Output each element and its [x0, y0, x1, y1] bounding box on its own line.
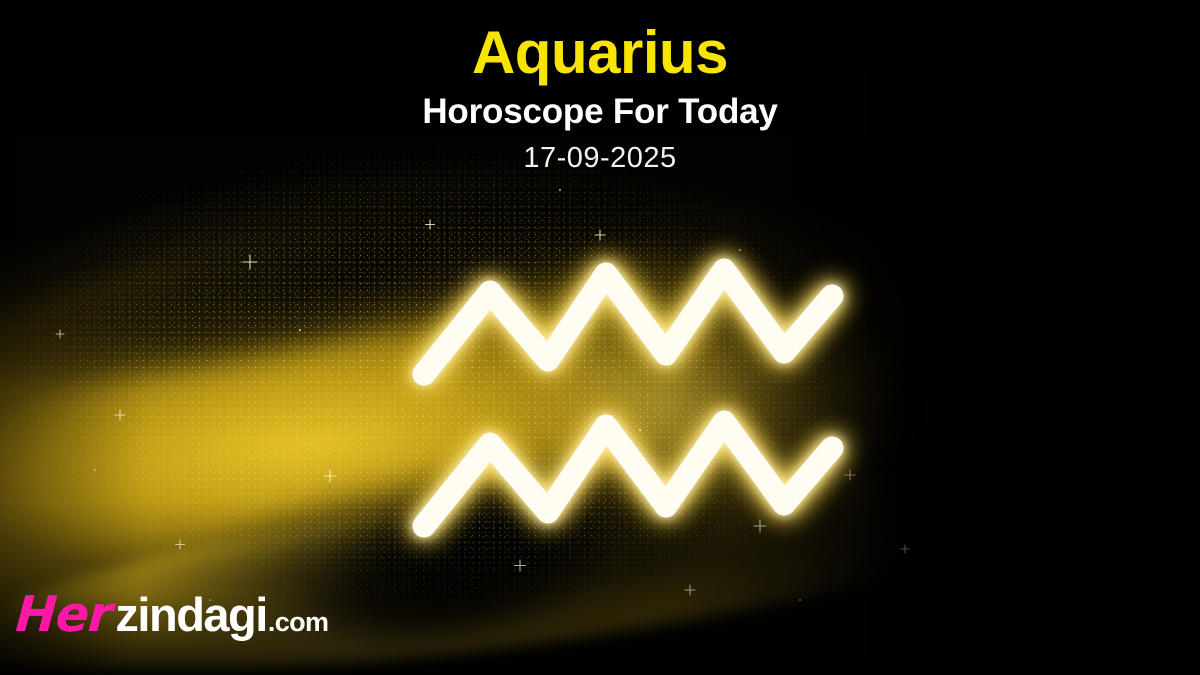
aquarius-wave-upper [424, 270, 832, 374]
herzindagi-logo[interactable]: Her zindagi .com [16, 590, 328, 639]
page-subtitle: Horoscope For Today [0, 92, 1200, 132]
logo-her-text: Her [14, 590, 113, 639]
logo-com-text: .com [268, 609, 329, 636]
aquarius-wave-lower [424, 422, 832, 526]
header-block: Aquarius Horoscope For Today 17-09-2025 [0, 22, 1200, 175]
horoscope-graphic-canvas: Aquarius Horoscope For Today 17-09-2025 … [0, 0, 1200, 675]
aquarius-symbol [398, 248, 858, 568]
horoscope-date: 17-09-2025 [0, 142, 1200, 175]
logo-zindagi-text: zindagi [115, 591, 266, 638]
page-title: Aquarius [0, 22, 1200, 84]
aquarius-waves-icon [398, 248, 858, 568]
